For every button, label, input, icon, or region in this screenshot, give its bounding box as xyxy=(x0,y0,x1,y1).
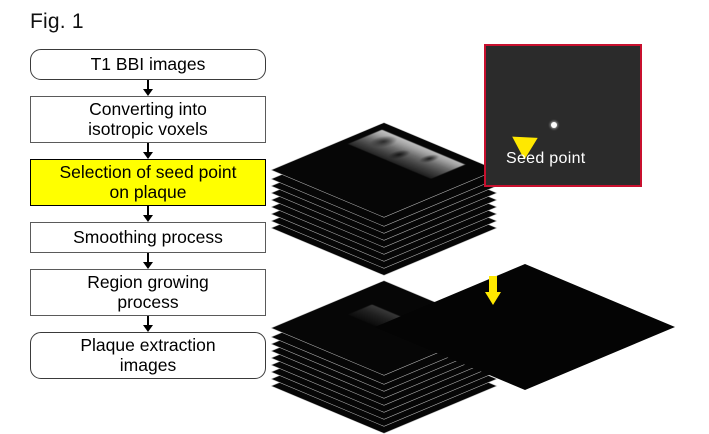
flow-step-t1-bbi-images: T1 BBI images xyxy=(30,49,266,80)
flow-connector-4 xyxy=(30,253,266,269)
flow-connector-3 xyxy=(30,206,266,222)
plaque-pointer-arrow-icon xyxy=(485,276,501,306)
flow-connector-5 xyxy=(30,316,266,332)
flow-step-label: Region growingprocess xyxy=(87,273,209,312)
flow-connector-2 xyxy=(30,143,266,159)
zoom-inset-panel: Seed point xyxy=(484,44,642,187)
arrow-head-icon xyxy=(143,152,153,159)
flow-step-label: Selection of seed pointon plaque xyxy=(59,163,236,202)
flow-step-selection-of-seed-point: Selection of seed pointon plaque xyxy=(30,159,266,206)
flow-step-smoothing-process: Smoothing process xyxy=(30,222,266,253)
flowchart: T1 BBI images Converting intoisotropic v… xyxy=(30,49,266,379)
flow-step-label: Smoothing process xyxy=(73,228,223,248)
arrow-head-icon xyxy=(143,325,153,332)
figure-label: Fig. 1 xyxy=(30,10,84,34)
seed-point-marker xyxy=(551,122,557,128)
flow-step-label: Converting intoisotropic voxels xyxy=(88,100,208,139)
flow-connector-1 xyxy=(30,80,266,96)
seed-point-label: Seed point xyxy=(506,150,586,168)
arrow-head-icon xyxy=(485,292,501,305)
flow-step-plaque-extraction-images: Plaque extractionimages xyxy=(30,332,266,379)
mri-3d-illustration: Seed point xyxy=(300,20,709,434)
flow-step-label: T1 BBI images xyxy=(91,55,206,75)
axial-slice-content xyxy=(461,291,608,353)
flow-step-region-growing-process: Region growingprocess xyxy=(30,269,266,316)
arrow-head-icon xyxy=(143,262,153,269)
mri-slice-content xyxy=(348,130,464,179)
arrow-head-icon xyxy=(143,215,153,222)
flow-step-label: Plaque extractionimages xyxy=(80,336,215,375)
arrow-head-icon xyxy=(143,89,153,96)
flow-step-converting-isotropic-voxels: Converting intoisotropic voxels xyxy=(30,96,266,143)
